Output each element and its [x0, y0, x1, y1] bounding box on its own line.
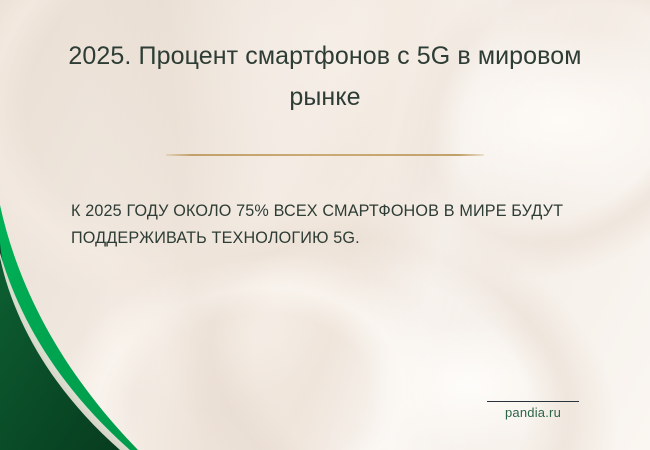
watermark-rule	[487, 401, 579, 402]
gold-divider	[166, 154, 484, 156]
watermark: pandia.ru	[487, 401, 579, 421]
page-title: 2025. Процент смартфонов с 5G в мировом …	[68, 36, 582, 118]
slide-canvas: 2025. Процент смартфонов с 5G в мировом …	[0, 0, 650, 450]
watermark-label: pandia.ru	[487, 405, 579, 421]
body-text: К 2025 ГОДУ ОКОЛО 75% ВСЕХ СМАРТФОНОВ В …	[71, 198, 579, 252]
